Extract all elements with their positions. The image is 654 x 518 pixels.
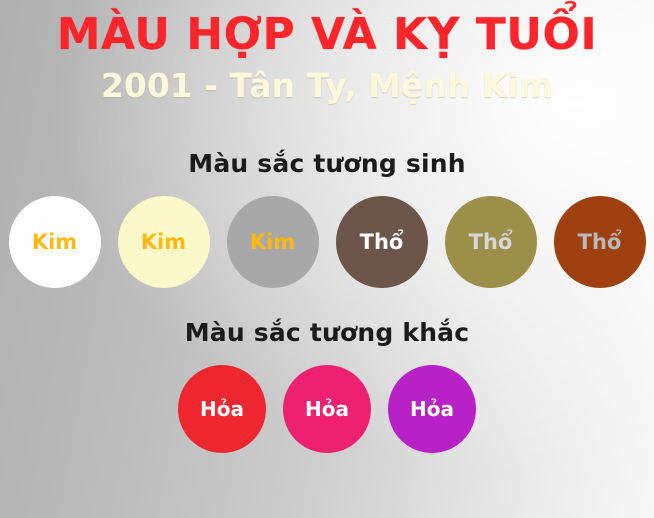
page-title: MÀU HỢP VÀ KỴ TUỔI: [0, 10, 654, 60]
color-row-tuong-sinh: Kim Kim Kim Thổ Thổ Thổ: [0, 196, 654, 288]
poster-root: MÀU HỢP VÀ KỴ TUỔI 2001 - Tân Ty, Mệnh K…: [0, 0, 654, 518]
color-swatch-label: Thổ: [360, 232, 404, 253]
page-subtitle: 2001 - Tân Ty, Mệnh Kim: [0, 67, 654, 105]
color-swatch-label: Thổ: [578, 232, 622, 253]
color-swatch-tho-olive[interactable]: Thổ: [445, 196, 537, 288]
section-heading-tuong-khac: Màu sắc tương khắc: [0, 318, 654, 347]
color-swatch-hoa-pink[interactable]: Hỏa: [283, 365, 371, 453]
color-row-tuong-khac: Hỏa Hỏa Hỏa: [0, 365, 654, 453]
color-swatch-hoa-purple[interactable]: Hỏa: [388, 365, 476, 453]
color-swatch-kim-light-yellow[interactable]: Kim: [118, 196, 210, 288]
color-swatch-label: Hỏa: [305, 399, 349, 419]
color-swatch-label: Kim: [141, 232, 186, 253]
poster-header: MÀU HỢP VÀ KỴ TUỔI 2001 - Tân Ty, Mệnh K…: [0, 0, 654, 105]
color-swatch-tho-dark-brown[interactable]: Thổ: [336, 196, 428, 288]
color-swatch-label: Hỏa: [200, 399, 244, 419]
color-swatch-kim-gray[interactable]: Kim: [227, 196, 319, 288]
section-heading-tuong-sinh: Màu sắc tương sinh: [0, 149, 654, 178]
color-swatch-hoa-red[interactable]: Hỏa: [178, 365, 266, 453]
color-swatch-label: Hỏa: [410, 399, 454, 419]
color-swatch-label: Kim: [250, 232, 295, 253]
color-swatch-label: Kim: [32, 232, 77, 253]
color-swatch-tho-rust[interactable]: Thổ: [554, 196, 646, 288]
color-swatch-kim-white[interactable]: Kim: [9, 196, 101, 288]
color-swatch-label: Thổ: [469, 232, 513, 253]
